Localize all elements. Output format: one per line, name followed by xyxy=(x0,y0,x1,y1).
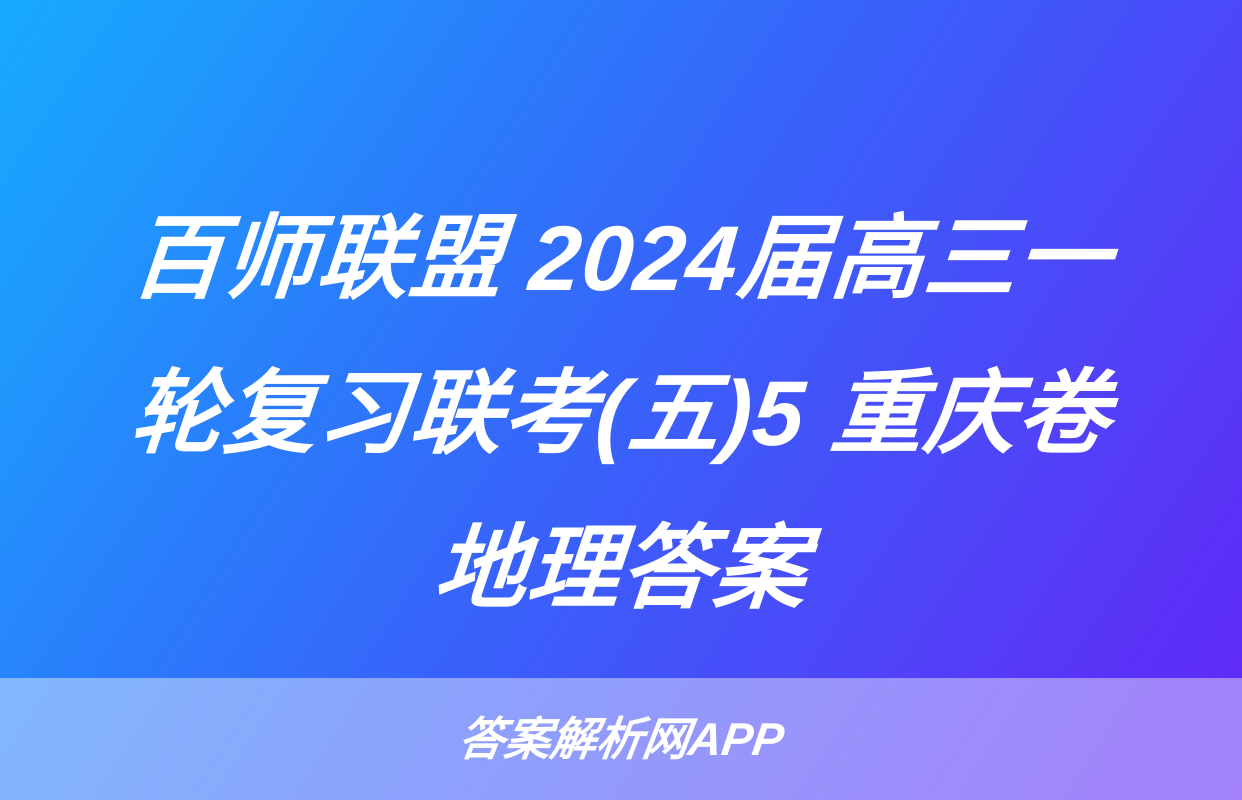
title-line-3: 地理答案 xyxy=(29,492,1213,647)
cover-card: 百师联盟 2024届高三一 轮复习联考(五)5 重庆卷 地理答案 答案解析网AP… xyxy=(0,0,1242,800)
app-watermark-label: 答案解析网APP xyxy=(455,716,786,762)
page-title: 百师联盟 2024届高三一 轮复习联考(五)5 重庆卷 地理答案 xyxy=(0,182,1242,647)
title-line-2: 轮复习联考(五)5 重庆卷 xyxy=(29,337,1213,492)
title-line-1: 百师联盟 2024届高三一 xyxy=(29,182,1213,337)
watermark-band: 答案解析网APP xyxy=(0,678,1242,800)
